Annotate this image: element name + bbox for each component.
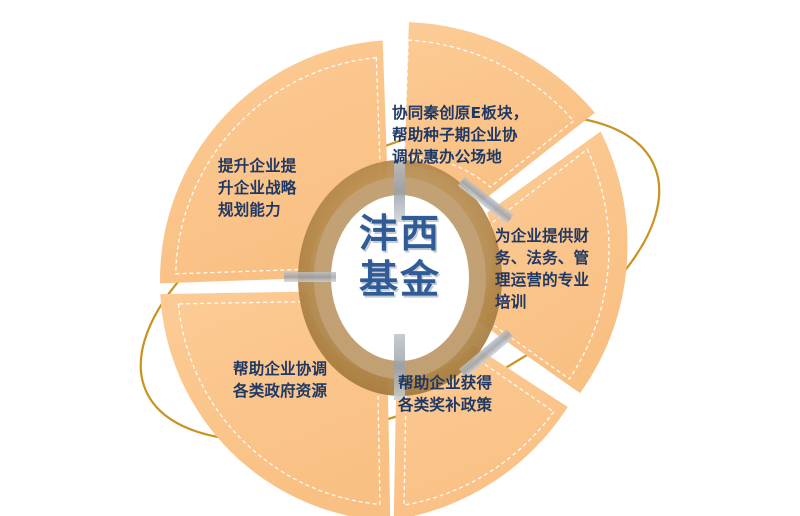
radial-diagram: 协同秦创原E板块， 帮助种子期企业协 调优惠办公场地 为企业提供财 务、法务、管…	[0, 0, 800, 516]
center-title: 沣西 基金	[318, 212, 482, 304]
segment-label-bottom-right: 帮助企业获得 各类奖补政策	[398, 372, 518, 416]
segment-label-top: 协同秦创原E板块， 帮助种子期企业协 调优惠办公场地	[392, 102, 572, 168]
segment-label-bottom-left: 帮助企业协调 各类政府资源	[233, 358, 353, 402]
segment-label-left: 提升企业提 升企业战略 规划能力	[218, 155, 328, 221]
segment-label-right: 为企业提供财 务、法务、管 理运营的专业 培训	[495, 225, 607, 313]
